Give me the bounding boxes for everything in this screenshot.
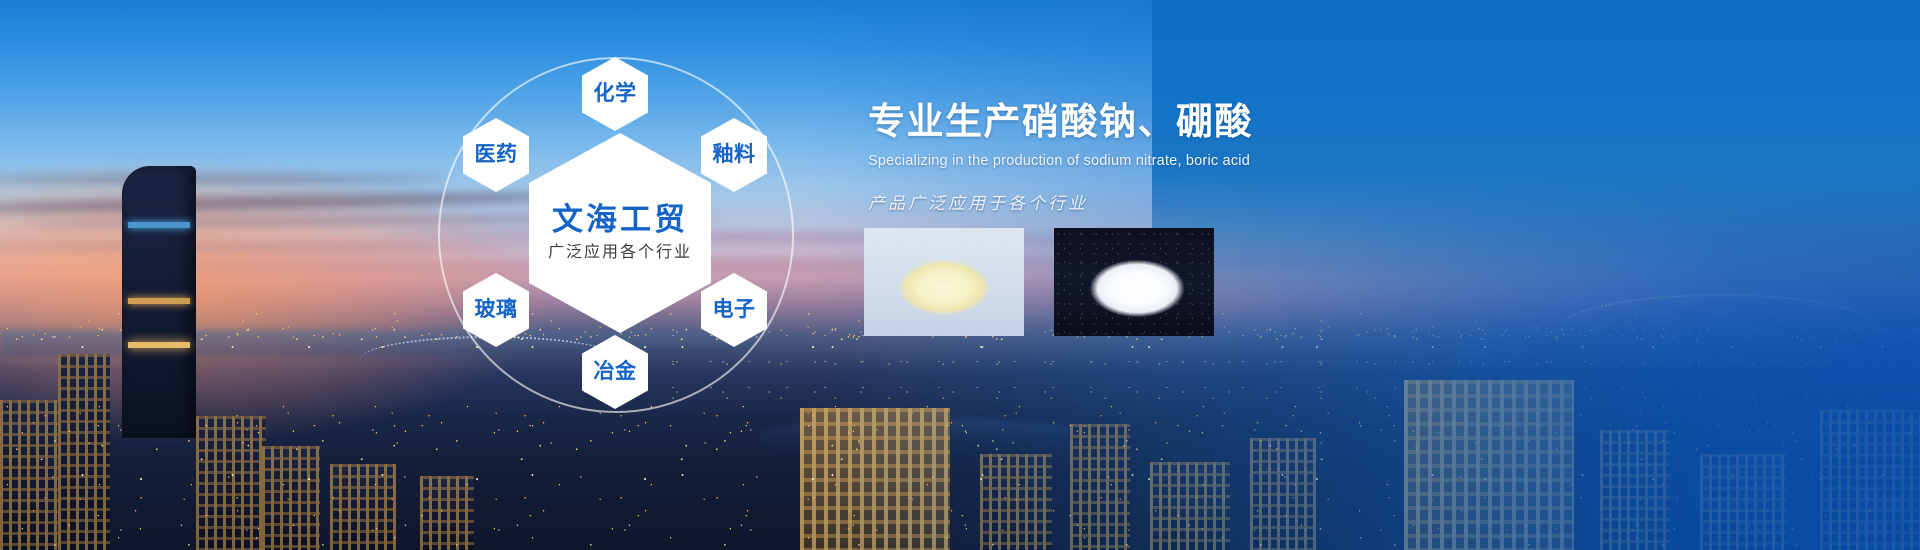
- product-photo-group: [864, 228, 1214, 336]
- hex-label: 化学: [594, 83, 637, 105]
- hero-banner: 化学 釉料 电子 冶金 玻璃 医药 文海工贸 广泛应用各个行业 专业生产硝酸钠、…: [0, 0, 1920, 550]
- hex-label: 冶金: [594, 361, 637, 383]
- product-photo-boric-acid[interactable]: [1054, 228, 1214, 336]
- headline: 专业生产硝酸钠、硼酸: [868, 100, 1508, 144]
- hex-label: 釉料: [713, 144, 756, 166]
- banner-copy: 专业生产硝酸钠、硼酸 Specializing in the productio…: [868, 100, 1508, 214]
- company-subtitle: 广泛应用各个行业: [548, 245, 692, 262]
- company-name: 文海工贸: [552, 204, 688, 237]
- product-photo-sodium-nitrate[interactable]: [864, 228, 1024, 336]
- hex-label: 医药: [475, 144, 518, 166]
- industry-hex-diagram: 化学 釉料 电子 冶金 玻璃 医药 文海工贸 广泛应用各个行业: [430, 35, 810, 435]
- tagline: 产品广泛应用于各个行业: [868, 189, 1508, 214]
- hex-label: 电子: [713, 299, 756, 321]
- hex-label: 玻璃: [475, 299, 518, 321]
- subheadline-english: Specializing in the production of sodium…: [868, 153, 1508, 169]
